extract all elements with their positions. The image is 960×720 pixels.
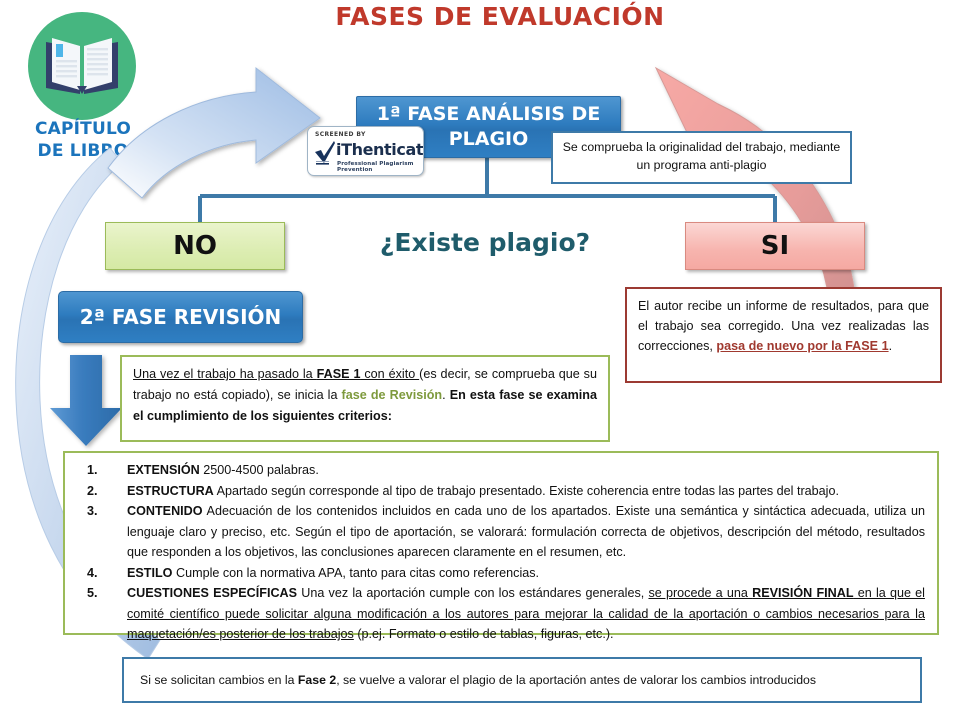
list-item: 4. ESTILO Cumple con la normativa APA, t… — [77, 563, 925, 584]
criteria-num: 2. — [87, 481, 98, 502]
criteria-num: 3. — [87, 501, 98, 522]
unavez-seg3: con éxito — [360, 367, 419, 381]
unavez-seg1: Una vez el trabajo ha pasado la — [133, 367, 317, 381]
callout-autor-highlight: pasa de nuevo por la FASE 1 — [716, 339, 888, 353]
fase2-box[interactable]: 2ª FASE REVISIÓN — [58, 291, 303, 343]
list-item: 5. CUESTIONES ESPECÍFICAS Una vez la apo… — [77, 583, 925, 645]
criteria-label: CONTENIDO — [127, 504, 203, 518]
fase2note-seg3: , se vuelve a valorar el plagio de la ap… — [336, 673, 816, 687]
ithenticate-logo: SCREENED BY iThenticate® Professional Pl… — [307, 126, 424, 176]
logo-screened-by: SCREENED BY — [315, 131, 366, 138]
list-item: 1. EXTENSIÓN 2500-4500 palabras. — [77, 460, 925, 481]
no-box[interactable]: NO — [105, 222, 285, 270]
criteria-text: 2500-4500 palabras. — [200, 463, 319, 477]
criteria-list: 1. EXTENSIÓN 2500-4500 palabras. 2. ESTR… — [77, 460, 925, 645]
criteria-label: EXTENSIÓN — [127, 463, 200, 477]
unavez-seg5: fase de Revisión — [342, 388, 443, 402]
callout-autor: El autor recibe un informe de resultados… — [625, 287, 942, 383]
check-mark-icon — [314, 140, 336, 166]
callout-una-vez: Una vez el trabajo ha pasado la FASE 1 c… — [120, 355, 610, 442]
diagram-canvas: FASES DE EVALUACIÓN CAPÍTUL — [0, 0, 960, 720]
criteria-text: Una vez la aportación cumple con los est… — [297, 586, 648, 600]
criteria-text: Apartado según corresponde al tipo de tr… — [214, 484, 839, 498]
list-item: 2. ESTRUCTURA Apartado según corresponde… — [77, 481, 925, 502]
si-box[interactable]: SI — [685, 222, 865, 270]
unavez-seg2: FASE 1 — [317, 367, 361, 381]
si-label: SI — [761, 231, 789, 261]
callout-fase2-note: Si se solicitan cambios en la Fase 2, se… — [122, 657, 922, 703]
fase2note-seg1: Si se solicitan cambios en la — [140, 673, 298, 687]
criteria-num: 4. — [87, 563, 98, 584]
criteria-text: Cumple con la normativa APA, tanto para … — [172, 566, 539, 580]
question-label: ¿Existe plagio? — [360, 228, 610, 257]
fase2-label: 2ª FASE REVISIÓN — [80, 305, 282, 329]
criteria-num: 5. — [87, 583, 98, 604]
unavez-seg6: . — [442, 388, 450, 402]
criteria-underline-bold: REVISIÓN FINAL — [752, 586, 853, 600]
criteria-label: CUESTIONES ESPECÍFICAS — [127, 586, 297, 600]
criteria-label: ESTILO — [127, 566, 172, 580]
criteria-label: ESTRUCTURA — [127, 484, 214, 498]
no-label: NO — [173, 231, 217, 261]
logo-tagline: Professional Plagiarism Prevention — [337, 161, 423, 173]
logo-name: iThenticate® — [336, 140, 424, 159]
criteria-underline-a: se procede a una — [648, 586, 752, 600]
callout-autor-text2: . — [889, 339, 893, 353]
list-item: 3. CONTENIDO Adecuación de los contenido… — [77, 501, 925, 563]
criteria-box: 1. EXTENSIÓN 2500-4500 palabras. 2. ESTR… — [63, 451, 939, 635]
fase2note-seg2: Fase 2 — [298, 673, 336, 687]
callout-originalidad-text: Se comprueba la originalidad del trabajo… — [563, 140, 841, 172]
callout-originalidad: Se comprueba la originalidad del trabajo… — [551, 131, 852, 184]
criteria-text: Adecuación de los contenidos incluidos e… — [127, 504, 925, 559]
criteria-num: 1. — [87, 460, 98, 481]
criteria-tail: (p.ej. Formato o estilo de tablas, figur… — [354, 627, 614, 641]
